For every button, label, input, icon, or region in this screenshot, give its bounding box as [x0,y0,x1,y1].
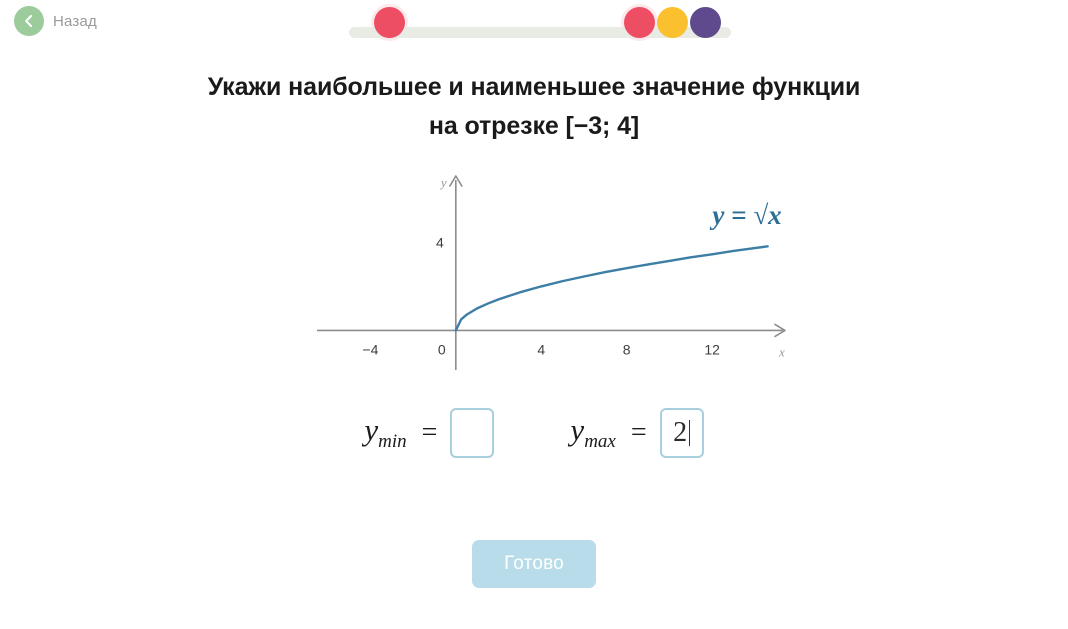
y-axis-name: y [439,175,447,190]
graph-canvas: yx−4048124y = √x [317,172,789,370]
equals-sign-min: = [422,417,438,449]
y-min-label: ymin [364,412,406,453]
x-tick-label: 8 [623,341,631,357]
top-bar: Назад [0,0,1068,50]
progress-dot-2 [624,7,655,38]
progress-dot-1 [374,7,405,38]
y-tick-label: 4 [436,234,444,250]
progress-dot-3 [657,7,688,38]
answer-group-min: ymin = [364,408,494,458]
x-tick-label: 12 [704,341,720,357]
progress-bar [349,0,731,46]
back-button[interactable]: Назад [14,6,97,36]
x-axis-name: x [778,344,785,359]
chevron-left-icon [14,6,44,36]
text-caret [689,420,690,446]
y-max-value: 2 [673,417,687,449]
back-button-label: Назад [53,13,97,30]
equals-sign-max: = [631,417,647,449]
y-max-label: ymax [570,412,615,453]
y-min-input[interactable] [450,408,494,458]
y-max-input[interactable]: 2 [660,408,704,458]
progress-dot-4 [690,7,721,38]
x-tick-label: −4 [362,341,378,357]
answer-group-max: ymax = 2 [570,408,703,458]
submit-row: Готово [0,540,1068,588]
x-tick-label: 0 [438,341,446,357]
x-tick-label: 4 [537,341,545,357]
function-curve [456,246,768,330]
function-graph: yx−4048124y = √x [317,172,789,370]
submit-button[interactable]: Готово [472,540,596,588]
question-line-2: на отрезке [−3; 4] [0,107,1068,146]
formula-text: y = √x [709,200,781,230]
question-line-1: Укажи наибольшее и наименьшее значение ф… [208,73,861,101]
answer-row: ymin = ymax = 2 [0,408,1068,458]
question-title: Укажи наибольшее и наименьшее значение ф… [0,68,1068,146]
formula-label: y = √x [709,200,781,230]
